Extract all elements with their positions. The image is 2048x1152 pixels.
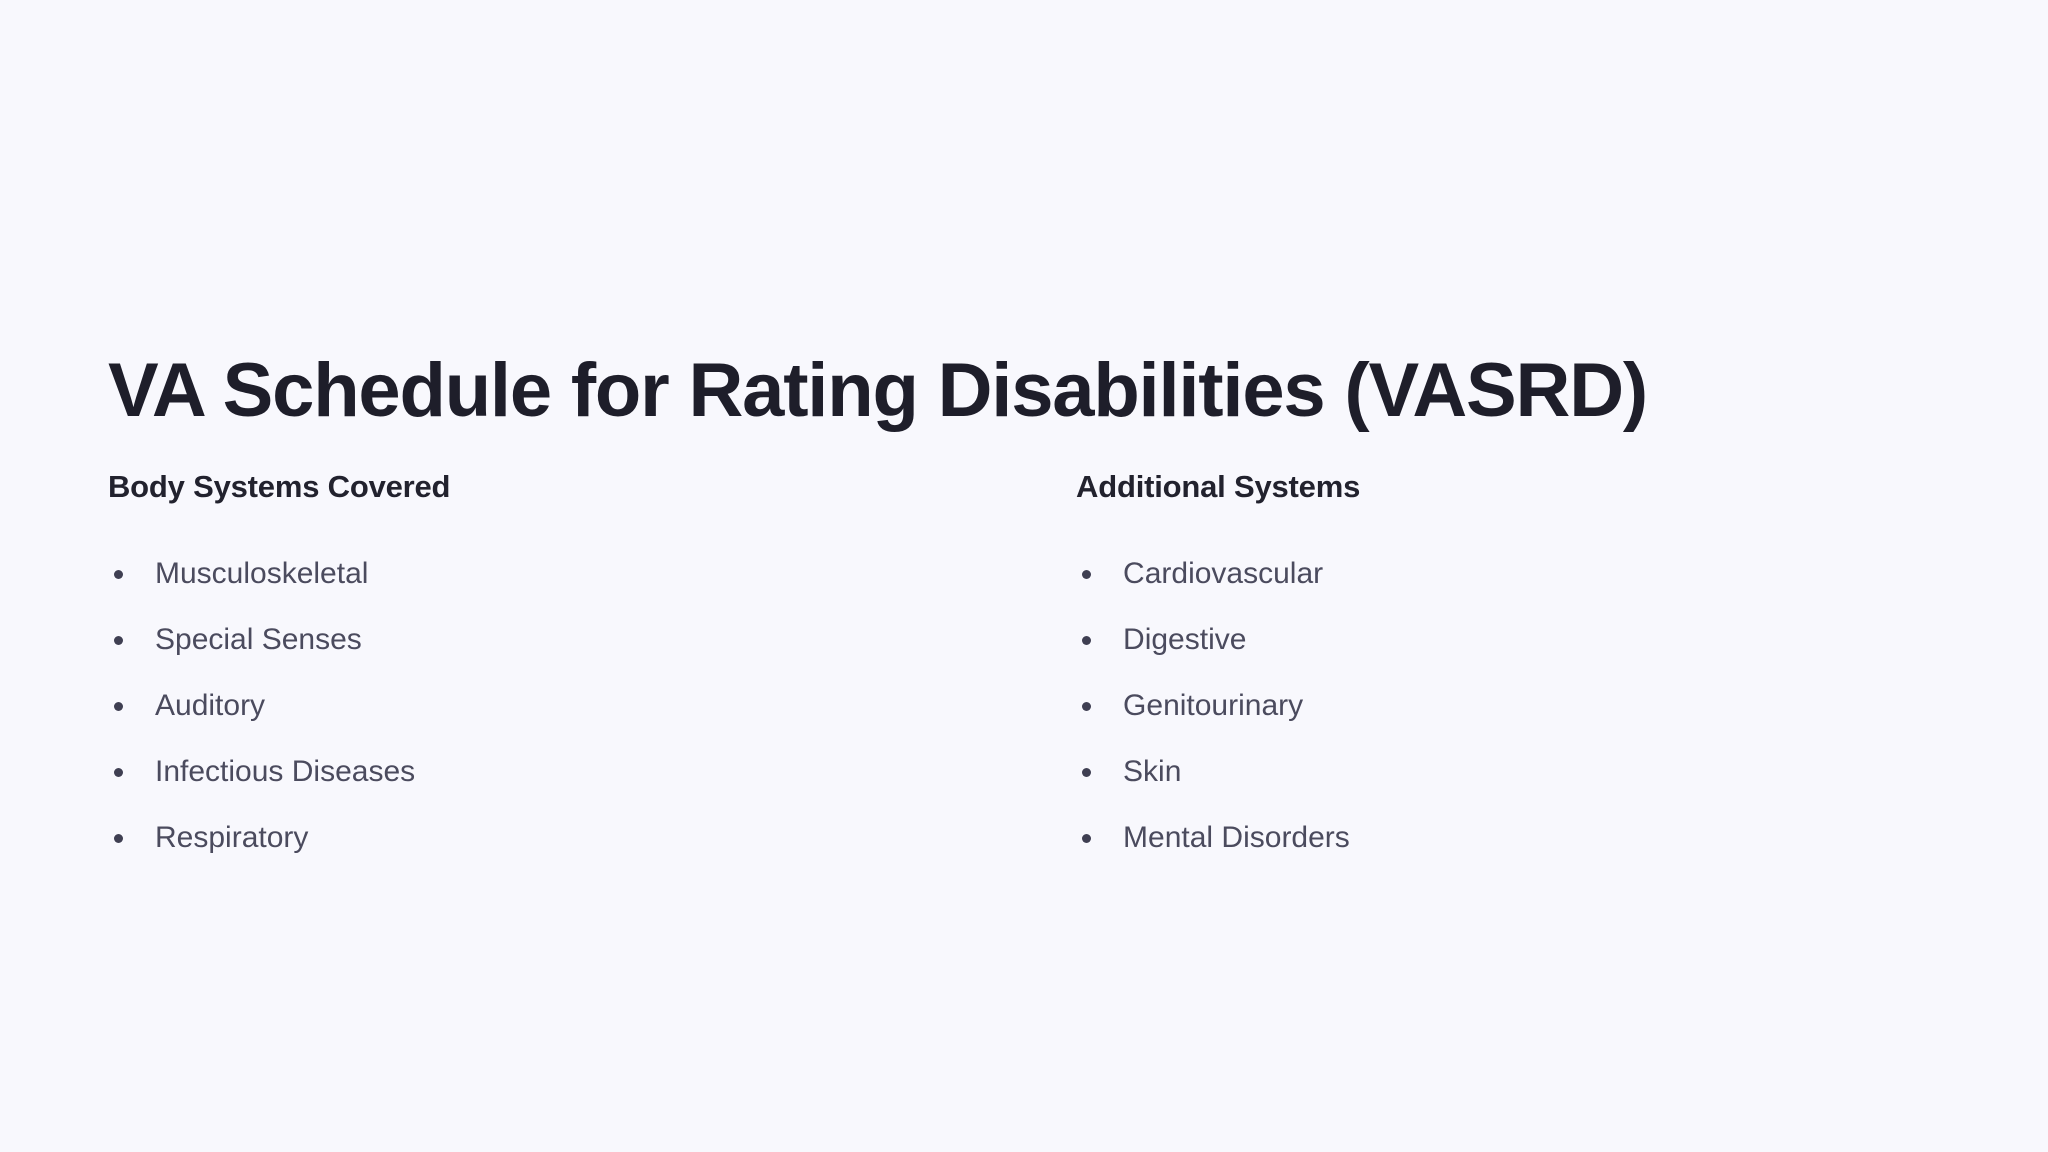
list-item: Genitourinary: [1076, 688, 1948, 724]
list-item-label: Musculoskeletal: [155, 557, 368, 590]
list-item: Respiratory: [108, 820, 1027, 856]
bullet-dot-icon: [114, 702, 123, 711]
bullet-list-additional-systems: Cardiovascular Digestive Genitourinary S…: [1076, 556, 1948, 856]
list-item: Special Senses: [108, 622, 1027, 658]
list-item-label: Mental Disorders: [1123, 821, 1350, 854]
list-item-label: Cardiovascular: [1123, 557, 1323, 590]
column-additional-systems: Additional Systems Cardiovascular Digest…: [1027, 468, 1948, 856]
bullet-dot-icon: [114, 636, 123, 645]
list-item-label: Skin: [1123, 755, 1181, 788]
bullet-dot-icon: [1082, 834, 1091, 843]
list-item-label: Digestive: [1123, 623, 1246, 656]
bullet-dot-icon: [114, 570, 123, 579]
list-item: Infectious Diseases: [108, 754, 1027, 790]
column-heading-body-systems-covered: Body Systems Covered: [108, 468, 1027, 507]
bullet-dot-icon: [1082, 636, 1091, 645]
bullet-dot-icon: [114, 768, 123, 777]
bullet-dot-icon: [1082, 570, 1091, 579]
list-item-label: Infectious Diseases: [155, 755, 415, 788]
list-item-label: Special Senses: [155, 623, 362, 656]
column-body-systems-covered: Body Systems Covered Musculoskeletal Spe…: [108, 468, 1027, 856]
content-columns: Body Systems Covered Musculoskeletal Spe…: [108, 468, 1948, 856]
list-item-label: Auditory: [155, 689, 265, 722]
bullet-list-body-systems-covered: Musculoskeletal Special Senses Auditory …: [108, 556, 1027, 856]
page-title: VA Schedule for Rating Disabilities (VAS…: [108, 348, 1647, 433]
list-item: Mental Disorders: [1076, 820, 1948, 856]
bullet-dot-icon: [114, 834, 123, 843]
list-item-label: Respiratory: [155, 821, 308, 854]
bullet-dot-icon: [1082, 702, 1091, 711]
list-item-label: Genitourinary: [1123, 689, 1303, 722]
slide-canvas: VA Schedule for Rating Disabilities (VAS…: [0, 0, 2048, 1152]
list-item: Cardiovascular: [1076, 556, 1948, 592]
list-item: Musculoskeletal: [108, 556, 1027, 592]
bullet-dot-icon: [1082, 768, 1091, 777]
list-item: Digestive: [1076, 622, 1948, 658]
list-item: Skin: [1076, 754, 1948, 790]
column-heading-additional-systems: Additional Systems: [1076, 468, 1948, 507]
list-item: Auditory: [108, 688, 1027, 724]
